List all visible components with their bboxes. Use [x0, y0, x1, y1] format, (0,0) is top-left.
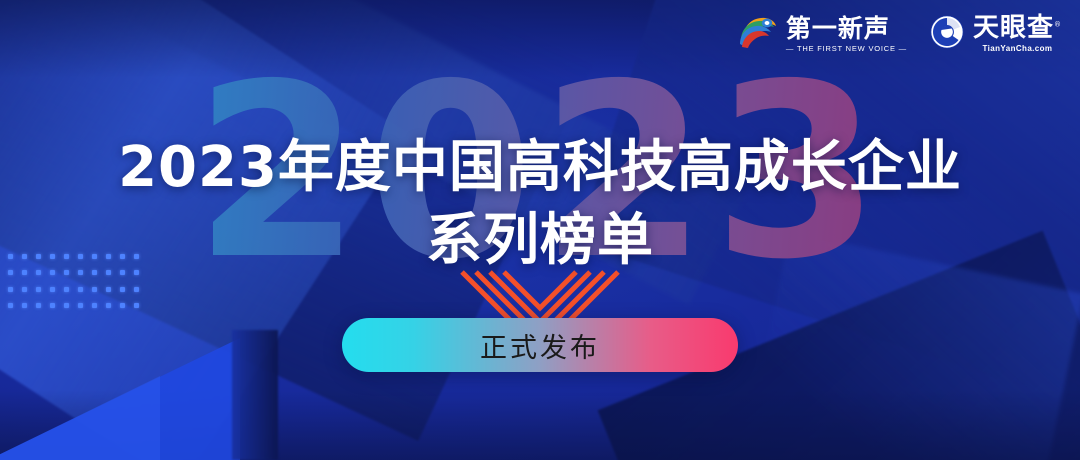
logo-tianyancha-cn: 天眼查®	[973, 15, 1062, 43]
logo-tianyancha-cn-label: 天眼查	[973, 13, 1054, 43]
logo-tianyancha-en: TianYanCha.com	[973, 44, 1062, 54]
logo-tianyancha[interactable]: 天眼查® TianYanCha.com	[929, 14, 1062, 55]
dot	[36, 303, 41, 308]
dot	[8, 303, 13, 308]
headline-line-1: 2023年度中国高科技高成长企业	[0, 132, 1080, 205]
logo-diyixinsheng-en: — THE FIRST NEW VOICE —	[786, 44, 907, 53]
background-facet-bottom-shade	[0, 390, 1080, 460]
page-title: 2023年度中国高科技高成长企业 系列榜单	[0, 132, 1080, 278]
release-button[interactable]: 正式发布	[342, 318, 738, 372]
dot	[36, 287, 41, 292]
logo-diyixinsheng-text: 第一新声 — THE FIRST NEW VOICE —	[786, 16, 907, 54]
promo-banner: 2023 2023年度中国高科技高成长企业 系列榜单 正式发布	[0, 0, 1080, 460]
dot	[8, 287, 13, 292]
dot	[106, 287, 111, 292]
headline-line-2: 系列榜单	[0, 205, 1080, 278]
trademark-symbol: ®	[1054, 20, 1062, 28]
logo-diyixinsheng[interactable]: 第一新声 — THE FIRST NEW VOICE —	[738, 14, 907, 55]
dot	[120, 287, 125, 292]
background-triangle-bottom-left-2	[0, 376, 160, 460]
dot	[106, 303, 111, 308]
dot	[64, 287, 69, 292]
logo-bar: 第一新声 — THE FIRST NEW VOICE — 天眼查® TianYa…	[738, 14, 1062, 55]
dot	[134, 287, 139, 292]
logo-diyixinsheng-cn: 第一新声	[786, 16, 907, 43]
dot	[50, 287, 55, 292]
dot	[50, 303, 55, 308]
dot	[64, 303, 69, 308]
dot	[134, 303, 139, 308]
background-facet-bottom-left-edge	[232, 330, 278, 460]
camera-aperture-eye-icon	[929, 14, 965, 55]
background-triangle-bottom-left	[0, 338, 240, 460]
swirl-ribbon-icon	[738, 14, 778, 55]
dot	[92, 287, 97, 292]
dot	[22, 303, 27, 308]
dot	[78, 287, 83, 292]
logo-tianyancha-text: 天眼查® TianYanCha.com	[973, 15, 1062, 54]
dot	[22, 287, 27, 292]
dot	[92, 303, 97, 308]
dot	[120, 303, 125, 308]
dot	[78, 303, 83, 308]
